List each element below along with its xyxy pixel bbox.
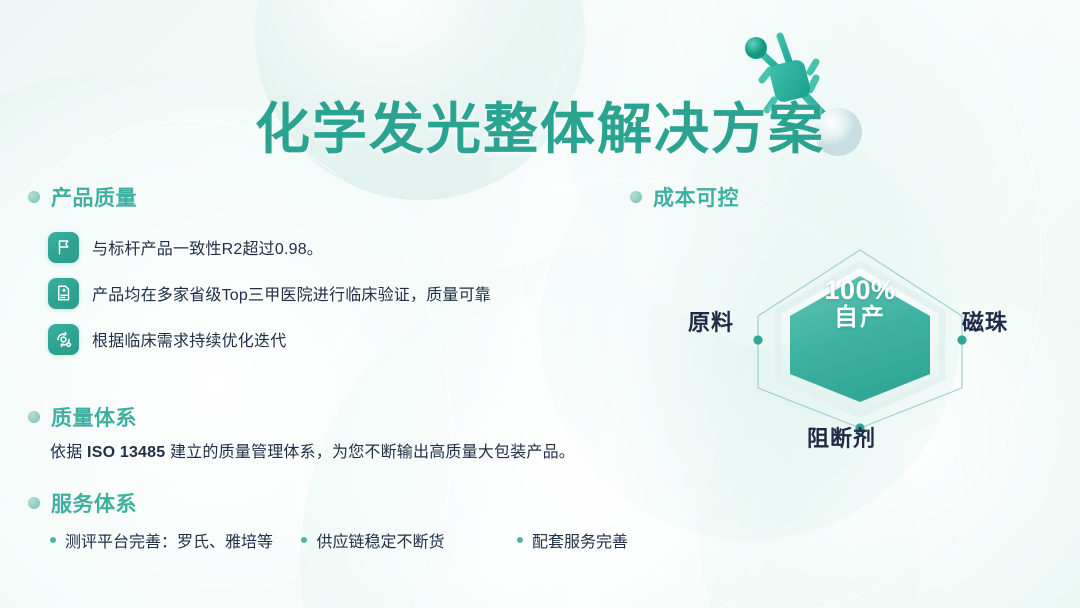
spacer xyxy=(28,362,628,402)
list-item-text: 与标杆产品一致性R2超过0.98。 xyxy=(92,235,323,259)
service-system-chip-list: 测评平台完善：罗氏、雅培等 供应链稳定不断货 配套服务完善 xyxy=(50,528,628,552)
bullet-dot-icon xyxy=(50,537,56,543)
continuous-optimization-icon xyxy=(48,324,79,355)
list-item-text: 供应链稳定不断货 xyxy=(316,528,444,552)
bullet-dot-icon xyxy=(28,411,40,423)
bullet-dot-icon xyxy=(301,537,307,543)
standard-code: ISO 13485 xyxy=(87,444,165,461)
medical-document-icon xyxy=(48,278,79,309)
section-title: 质量体系 xyxy=(51,402,137,432)
list-item-text: 测评平台完善：罗氏、雅培等 xyxy=(65,528,273,552)
bullet-dot-icon xyxy=(630,191,642,203)
hex-node-left xyxy=(753,335,762,344)
list-item: 根据临床需求持续优化迭代 xyxy=(48,316,628,362)
paragraph-lead: 依据 xyxy=(50,444,87,461)
hex-label-raw-material: 原料 xyxy=(688,305,734,337)
hex-label-magnetic-beads: 磁珠 xyxy=(962,305,1008,337)
section-header-service-system: 服务体系 xyxy=(28,488,628,518)
list-item: 配套服务完善 xyxy=(517,528,628,552)
section-title: 产品质量 xyxy=(51,182,137,212)
bullet-dot-icon xyxy=(28,191,40,203)
right-content-column: 成本可控 xyxy=(630,182,1060,218)
product-quality-list: 与标杆产品一致性R2超过0.98。 产品均在多家省级Top三甲医院进行临床验证，… xyxy=(48,224,628,362)
section-title: 服务体系 xyxy=(51,488,137,518)
spacer xyxy=(28,462,628,488)
list-item-text: 产品均在多家省级Top三甲医院进行临床验证，质量可靠 xyxy=(92,281,491,305)
self-production-hex-diagram: 100% 自产 原料 磁珠 阻断剂 xyxy=(660,228,1060,458)
bullet-dot-icon xyxy=(28,497,40,509)
slide-canvas: 化学发光整体解决方案 产品质量 与标杆产品一致性R2超过0.98。 xyxy=(0,0,1080,608)
flag-icon xyxy=(48,232,79,263)
list-item: 与标杆产品一致性R2超过0.98。 xyxy=(48,224,628,270)
list-item: 测评平台完善：罗氏、雅培等 xyxy=(50,528,301,552)
section-header-cost-control: 成本可控 xyxy=(630,182,1060,212)
list-item: 供应链稳定不断货 xyxy=(301,528,517,552)
list-item: 产品均在多家省级Top三甲医院进行临床验证，质量可靠 xyxy=(48,270,628,316)
bullet-dot-icon xyxy=(517,537,523,543)
quality-system-paragraph: 依据 ISO 13485 建立的质量管理体系，为您不断输出高质量大包装产品。 xyxy=(50,438,628,462)
section-title: 成本可控 xyxy=(653,182,739,212)
page-title: 化学发光整体解决方案 xyxy=(0,84,1080,164)
list-item-text: 根据临床需求持续优化迭代 xyxy=(92,327,286,351)
hex-label-blocking-agent: 阻断剂 xyxy=(807,421,876,453)
section-header-quality-system: 质量体系 xyxy=(28,402,628,432)
section-header-product-quality: 产品质量 xyxy=(28,182,628,212)
left-content-column: 产品质量 与标杆产品一致性R2超过0.98。 xyxy=(28,182,628,552)
paragraph-tail: 建立的质量管理体系，为您不断输出高质量大包装产品。 xyxy=(165,444,575,461)
list-item-text: 配套服务完善 xyxy=(532,528,628,552)
